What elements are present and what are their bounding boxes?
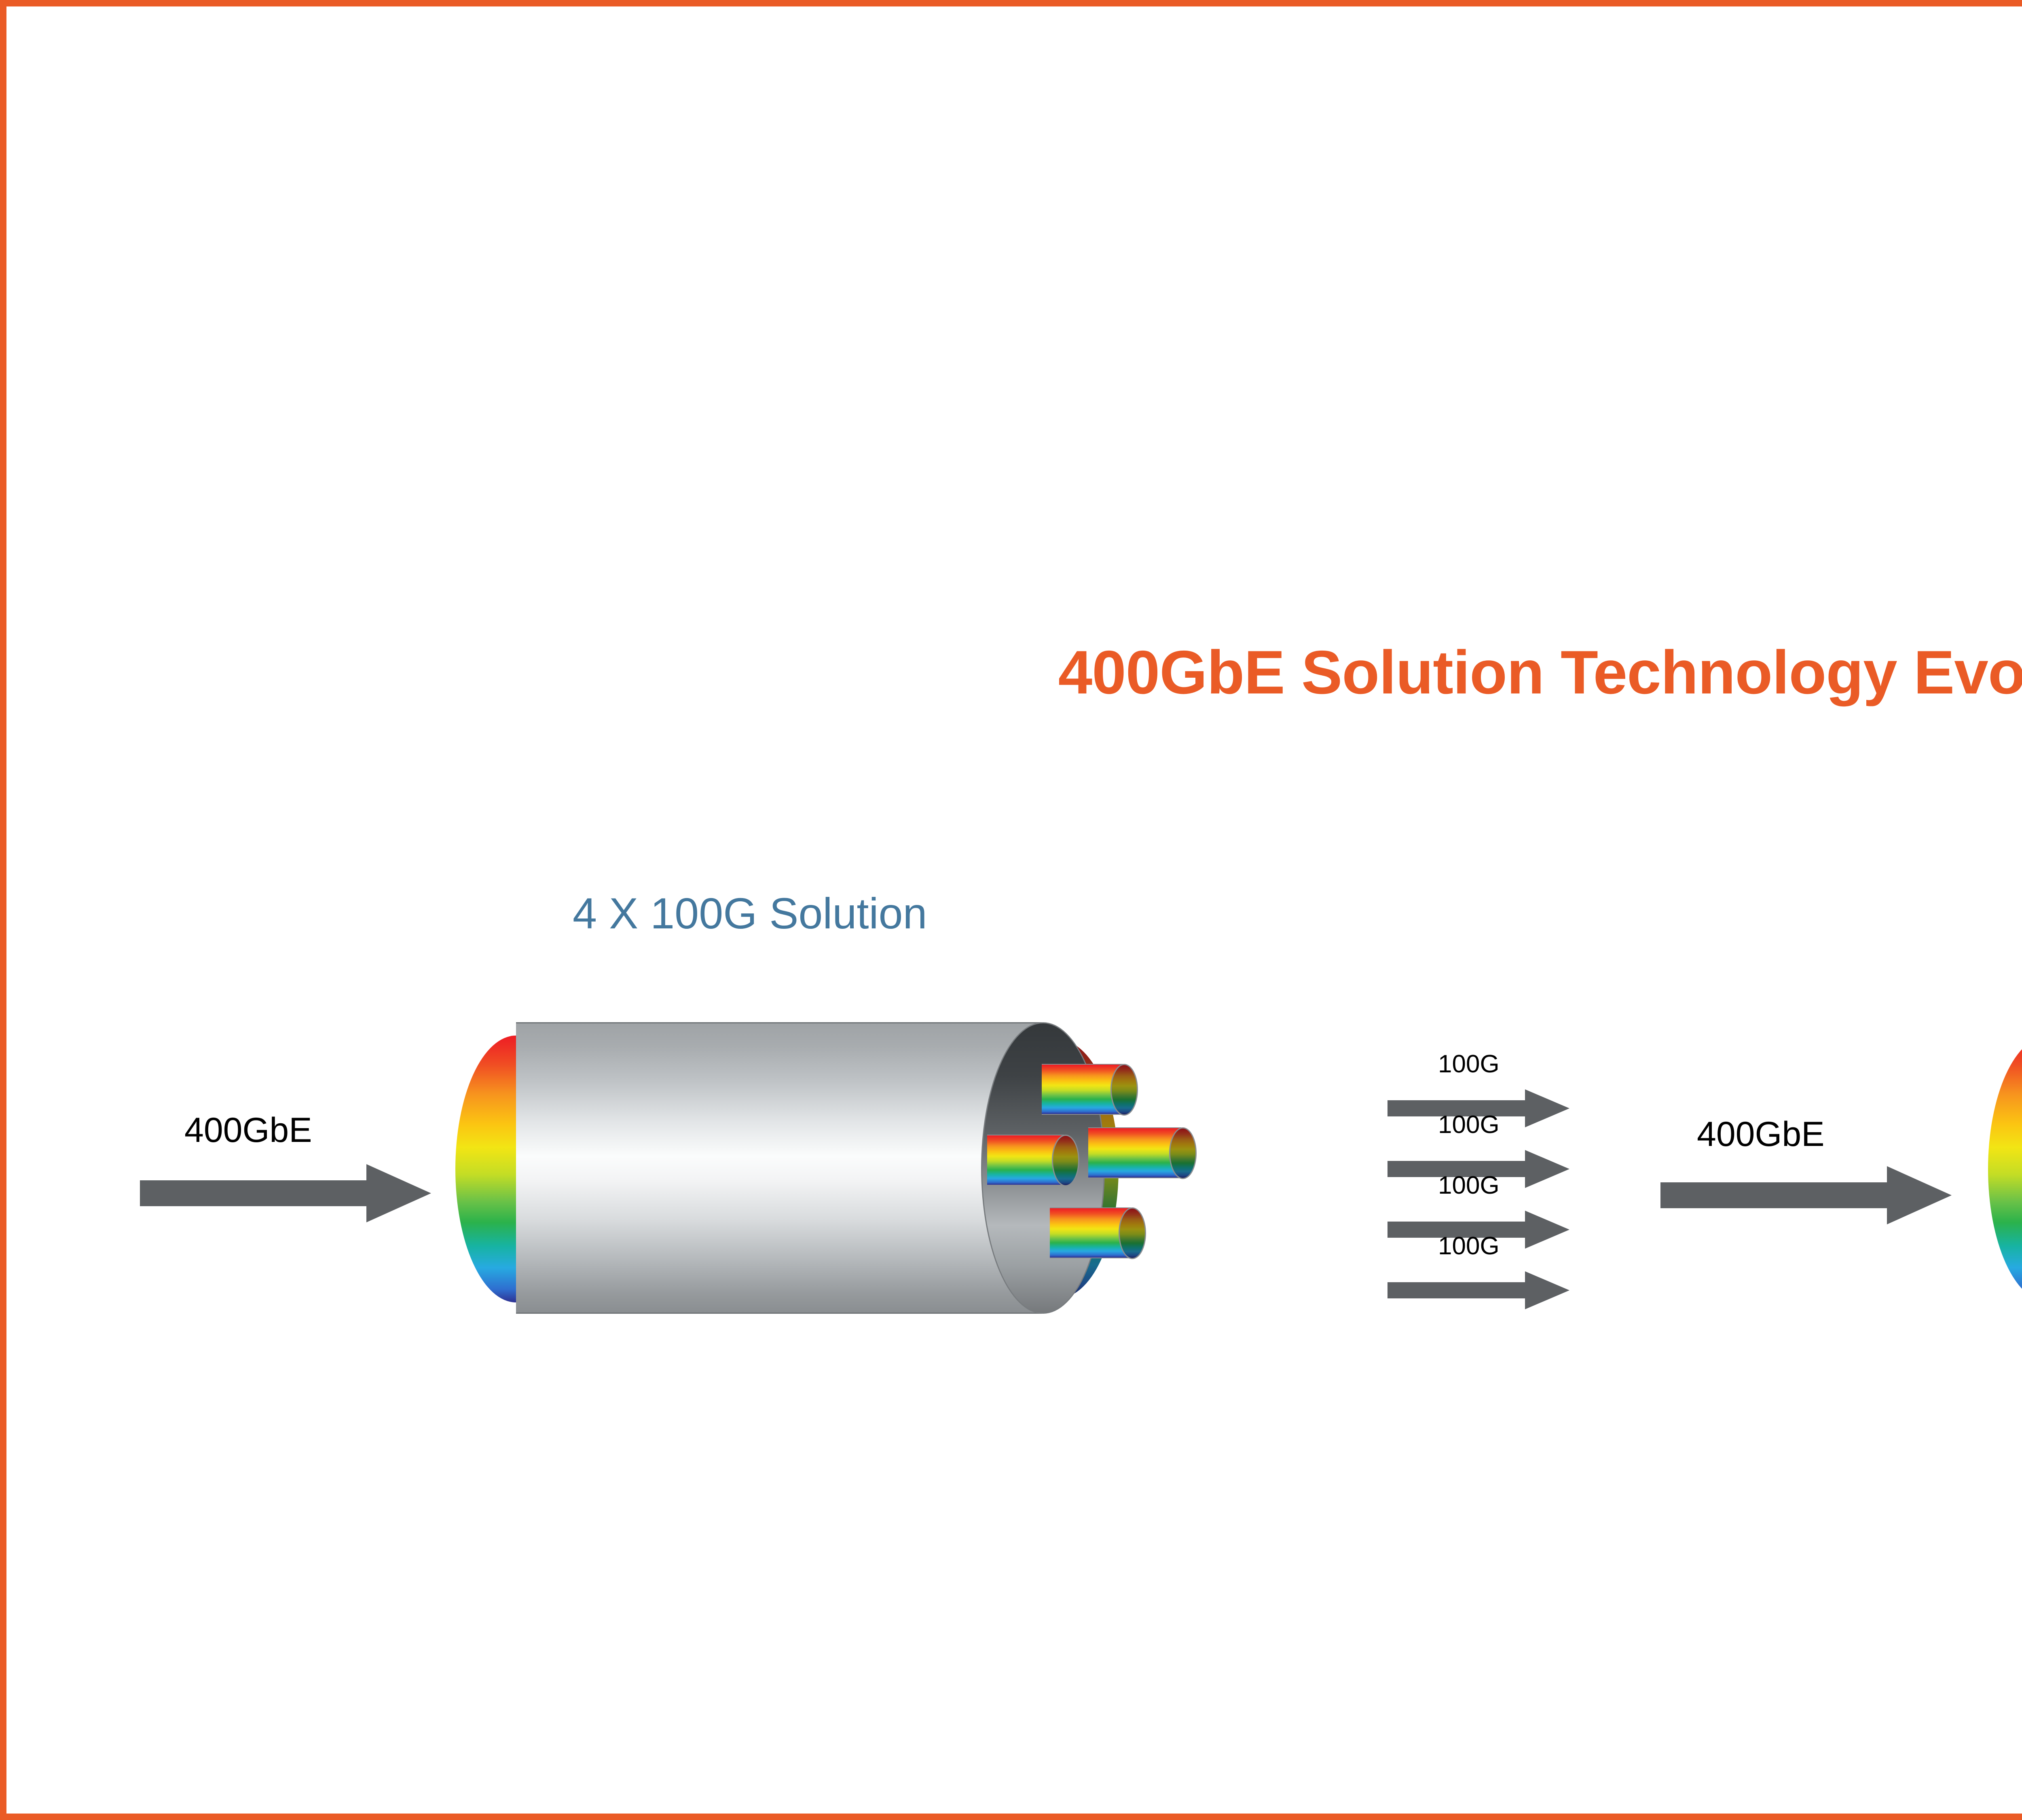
section-title-left: 4 X 100G Solution	[573, 888, 927, 939]
fiber-tube-cap-3	[1169, 1127, 1197, 1179]
fiber-tube-body-3	[1088, 1127, 1181, 1178]
arrow-right-icon-100g-4	[1387, 1270, 1569, 1311]
input-label-right: 400GbE	[1697, 1114, 1825, 1154]
input-label-left: 400GbE	[184, 1110, 312, 1150]
flow-label-100g-2: 100G	[1438, 1110, 1500, 1139]
cable-1x100g-icon	[1980, 1017, 2022, 1317]
cable-4x100g-icon	[443, 1017, 1333, 1317]
page-title: 400GbE Solution Technology Evolution	[6, 637, 2022, 708]
fiber-tube-cap-4	[1119, 1207, 1146, 1259]
cable-right-rainbow-cap	[1988, 1036, 2022, 1302]
arrow-right-icon-input-left	[140, 1161, 431, 1226]
fiber-tube-cap-1	[1110, 1064, 1138, 1116]
flow-label-100g-4: 100G	[1438, 1232, 1500, 1260]
arrow-right-icon-input-right	[1660, 1163, 1952, 1228]
cable-left-barrel	[516, 1022, 1042, 1314]
flow-label-100g-3: 100G	[1438, 1171, 1500, 1200]
flow-label-100g-1: 100G	[1438, 1050, 1500, 1078]
fiber-tube-cap-2	[1052, 1135, 1079, 1186]
diagram-canvas: 400GbE Solution Technology Evolution 4 X…	[0, 0, 2022, 1820]
